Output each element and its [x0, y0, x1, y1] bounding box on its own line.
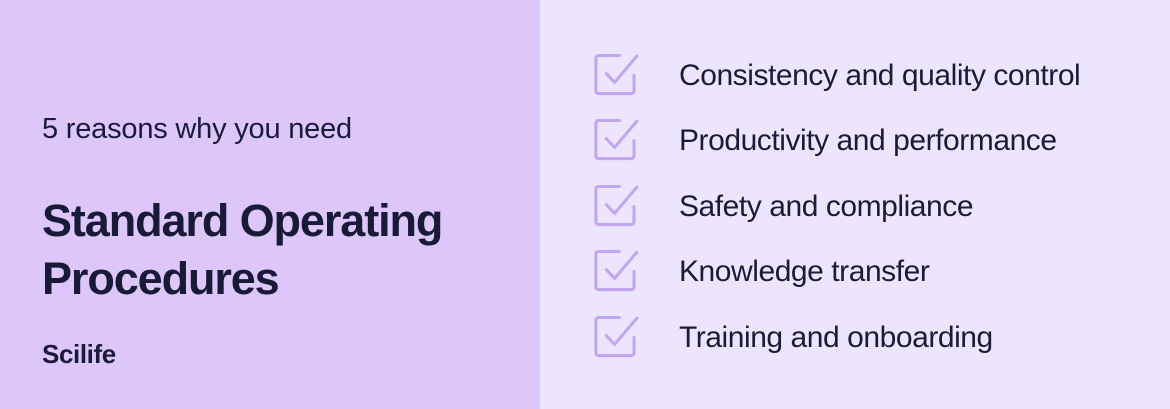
- list-item-label: Consistency and quality control: [679, 59, 1080, 92]
- list-item: Training and onboarding: [590, 311, 1160, 363]
- page-title: Standard Operating Procedures: [42, 192, 522, 308]
- list-item-label: Training and onboarding: [679, 321, 993, 354]
- list-item: Consistency and quality control: [590, 49, 1160, 101]
- checked-checkbox-icon: [590, 245, 642, 297]
- list-item: Knowledge transfer: [590, 245, 1160, 297]
- brand-logo: Scilife: [42, 341, 116, 367]
- checked-checkbox-icon: [590, 49, 642, 101]
- eyebrow-text: 5 reasons why you need: [42, 113, 352, 146]
- list-item: Safety and compliance: [590, 180, 1160, 232]
- list-item-label: Productivity and performance: [679, 124, 1057, 157]
- list-item: Productivity and performance: [590, 114, 1160, 166]
- list-item-label: Knowledge transfer: [679, 255, 929, 288]
- benefits-panel: Consistency and quality control Producti…: [540, 0, 1170, 409]
- title-panel: 5 reasons why you need Standard Operatin…: [0, 0, 540, 409]
- checked-checkbox-icon: [590, 180, 642, 232]
- list-item-label: Safety and compliance: [679, 190, 973, 223]
- slide-canvas: 5 reasons why you need Standard Operatin…: [0, 0, 1170, 409]
- benefits-list: Consistency and quality control Producti…: [540, 0, 1170, 409]
- checked-checkbox-icon: [590, 311, 642, 363]
- checked-checkbox-icon: [590, 114, 642, 166]
